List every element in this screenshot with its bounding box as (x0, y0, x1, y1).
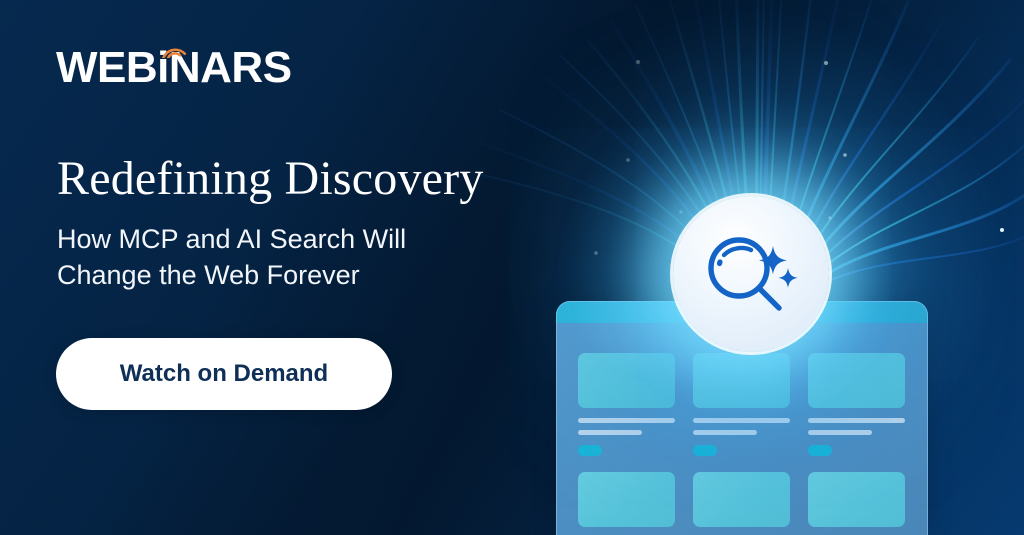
webinar-promo-banner: WEBiNARS Redefining Discovery How MCP an… (0, 0, 1024, 535)
card-text-line (808, 418, 905, 423)
wifi-signal-icon (159, 36, 189, 58)
ai-magnifier-sparkle-icon (699, 222, 803, 326)
card-text-line (693, 430, 757, 435)
page-title: Redefining Discovery (57, 152, 484, 206)
list-item[interactable] (808, 353, 905, 456)
list-item[interactable] (693, 472, 790, 527)
list-item[interactable] (578, 353, 675, 456)
list-item[interactable] (693, 353, 790, 456)
card-thumbnail (693, 472, 790, 527)
ai-search-badge (673, 196, 829, 352)
card-tag-badge (808, 445, 832, 456)
sparkle-small-icon (778, 268, 797, 288)
list-item[interactable] (808, 472, 905, 527)
card-text-line (693, 418, 790, 423)
card-thumbnail (808, 353, 905, 408)
page-subtitle-line-1: How MCP and AI Search Will (57, 222, 406, 258)
card-row-1 (578, 353, 906, 456)
page-subtitle: How MCP and AI Search Will Change the We… (57, 222, 406, 293)
list-item[interactable] (578, 472, 675, 527)
panel-card-grid (578, 353, 906, 527)
page-subtitle-line-2: Change the Web Forever (57, 258, 406, 294)
card-tag-badge (578, 445, 602, 456)
card-thumbnail (578, 472, 675, 527)
card-tag-badge (693, 445, 717, 456)
watch-on-demand-button[interactable]: Watch on Demand (56, 338, 392, 410)
card-row-2 (578, 472, 906, 527)
card-thumbnail (808, 472, 905, 527)
card-text-line (808, 430, 872, 435)
card-text-line (578, 418, 675, 423)
card-text-line (578, 430, 642, 435)
card-thumbnail (578, 353, 675, 408)
card-thumbnail (693, 353, 790, 408)
brand-logo: WEBiNARS (56, 46, 292, 90)
